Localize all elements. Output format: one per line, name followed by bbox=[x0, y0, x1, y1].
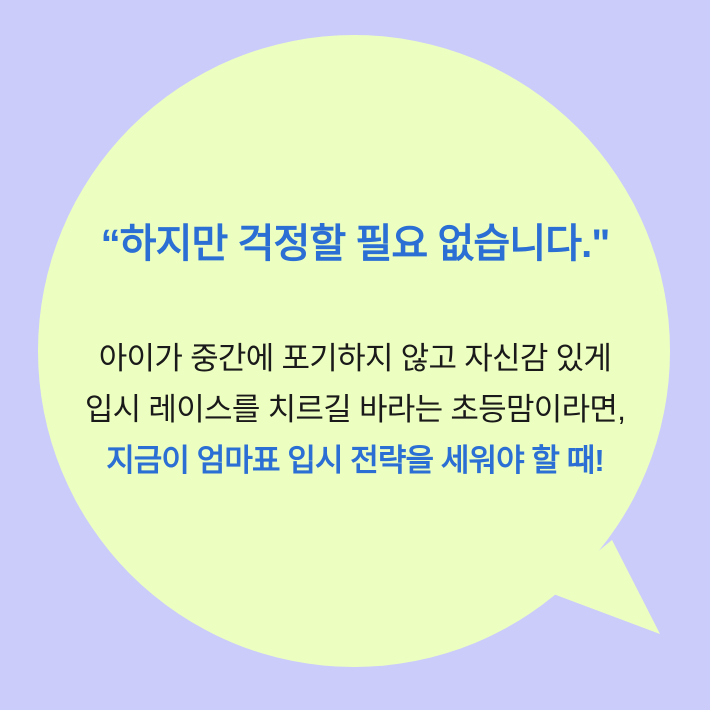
bubble-content: “하지만 걱정할 필요 없습니다." 아이가 중간에 포기하지 않고 자신감 있… bbox=[0, 0, 710, 710]
body-line-1: 아이가 중간에 포기하지 않고 자신감 있게 bbox=[0, 333, 710, 384]
speech-bubble-card: “하지만 걱정할 필요 없습니다." 아이가 중간에 포기하지 않고 자신감 있… bbox=[0, 0, 710, 710]
body-line-3-callout: 지금이 엄마표 입시 전략을 세워야 할 때! bbox=[0, 435, 710, 486]
body-line-2: 입시 레이스를 치르길 바라는 초등맘이라면, bbox=[0, 384, 710, 435]
headline-quote: “하지만 걱정할 필요 없습니다." bbox=[0, 224, 710, 264]
body-text-block: 아이가 중간에 포기하지 않고 자신감 있게 입시 레이스를 치르길 바라는 초… bbox=[0, 333, 710, 486]
